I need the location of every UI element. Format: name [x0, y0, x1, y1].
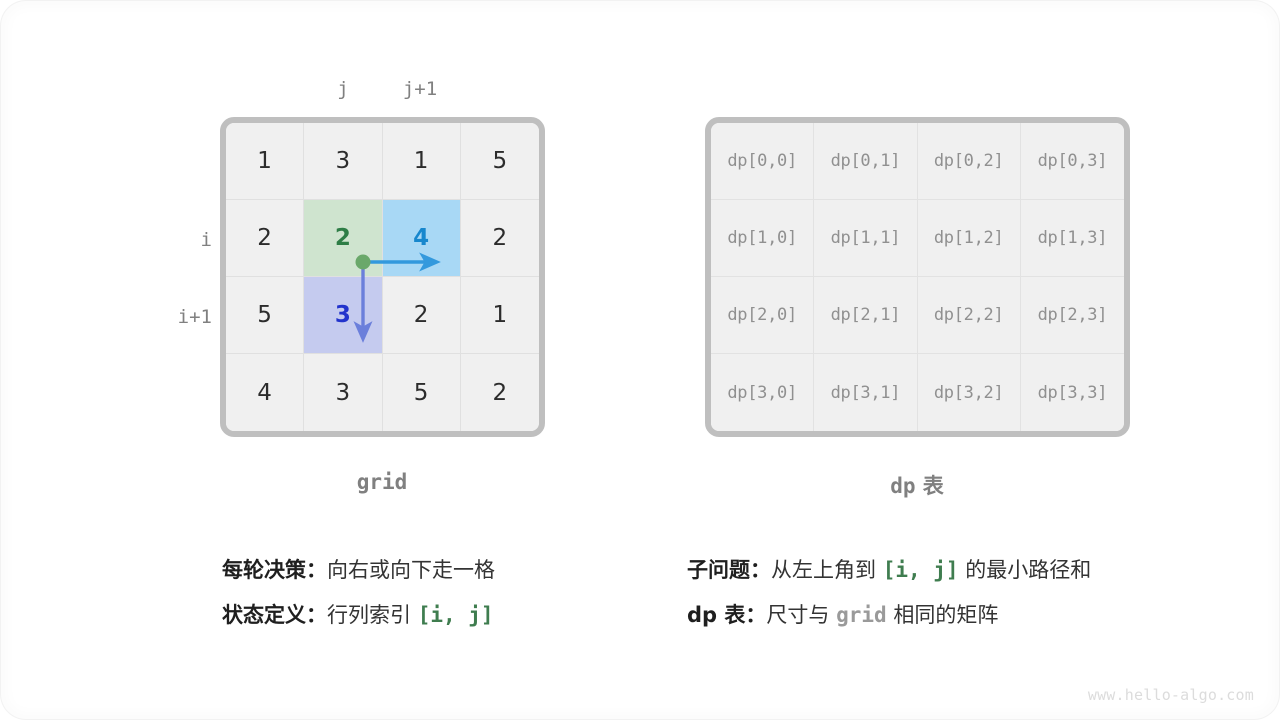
note-left-0: 每轮决策：向右或向下走一格 [222, 560, 495, 581]
dp-cell-0-3: dp[0,3] [1021, 123, 1124, 200]
note-right-0: 子问题：从左上角到 [i, j] 的最小路径和 [687, 560, 1091, 581]
note-code: [i, j] [418, 603, 494, 627]
dp-caption-code: dp [890, 474, 915, 498]
watermark: www.hello-algo.com [1088, 686, 1254, 704]
dp-cell-2-2: dp[2,2] [918, 277, 1021, 354]
grid-cell-value: 5 [257, 302, 272, 328]
note-label: 状态定义： [222, 603, 327, 627]
grid-cell-value: 2 [257, 225, 272, 251]
grid-cell-2-0: 5 [226, 277, 304, 354]
grid-cell-3-0: 4 [226, 354, 304, 431]
grid-matrix: 1315224253214352 [220, 117, 545, 437]
grid-cell-2-2: 2 [383, 277, 461, 354]
grid-cell-value: 2 [335, 225, 351, 251]
note-tail: 相同的矩阵 [887, 603, 999, 627]
note-label: 每轮决策： [222, 558, 327, 582]
grid-cell-value: 1 [493, 302, 508, 328]
dp-cell-2-1: dp[2,1] [814, 277, 917, 354]
dp-cell-1-0: dp[1,0] [711, 200, 814, 277]
note-left-1: 状态定义：行列索引 [i, j] [222, 605, 494, 626]
col-label-j-plus-1: j+1 [392, 78, 448, 100]
grid-cell-value: 2 [493, 225, 508, 251]
grid-cell-1-3: 2 [461, 200, 539, 277]
dp-cell-3-2: dp[3,2] [918, 354, 1021, 431]
grid-cell-value: 4 [413, 225, 429, 251]
dp-cell-0-2: dp[0,2] [918, 123, 1021, 200]
grid-cell-value: 1 [414, 148, 429, 174]
grid-cell-value: 3 [336, 148, 351, 174]
dp-cell-2-3: dp[2,3] [1021, 277, 1124, 354]
dp-cell-3-1: dp[3,1] [814, 354, 917, 431]
grid-cell-3-1: 3 [304, 354, 382, 431]
note-body: 尺寸与 [766, 603, 836, 627]
dp-caption: dp 表 [817, 470, 1017, 500]
grid-cell-value: 2 [414, 302, 429, 328]
dp-cell-2-0: dp[2,0] [711, 277, 814, 354]
note-tail: 的最小路径和 [959, 558, 1092, 582]
diagram-canvas: j j+1 i i+1 1315224253214352 grid [0, 0, 1280, 720]
grid-cell-3-3: 2 [461, 354, 539, 431]
dp-cell-3-3: dp[3,3] [1021, 354, 1124, 431]
grid-cell-value: 3 [335, 302, 351, 328]
grid-caption: grid [282, 470, 482, 494]
note-body: 向右或向下走一格 [327, 558, 495, 582]
dp-cell-1-2: dp[1,2] [918, 200, 1021, 277]
grid-cell-0-2: 1 [383, 123, 461, 200]
note-code: grid [836, 603, 887, 627]
dp-cell-3-0: dp[3,0] [711, 354, 814, 431]
grid-cell-2-1: 3 [304, 277, 382, 354]
note-body: 行列索引 [327, 603, 418, 627]
row-label-i: i [136, 229, 212, 251]
note-body: 从左上角到 [771, 558, 883, 582]
note-label: 子问题： [687, 558, 771, 582]
grid-cell-value: 4 [257, 380, 272, 406]
grid-cell-value: 3 [336, 380, 351, 406]
note-right-1: dp 表：尺寸与 grid 相同的矩阵 [687, 605, 998, 626]
dp-cell-0-1: dp[0,1] [814, 123, 917, 200]
grid-cell-value: 1 [257, 148, 272, 174]
grid-cell-0-3: 5 [461, 123, 539, 200]
grid-cell-1-1: 2 [304, 200, 382, 277]
note-label: dp 表： [687, 603, 766, 627]
grid-cell-value: 5 [493, 148, 508, 174]
grid-cell-2-3: 1 [461, 277, 539, 354]
note-code: [i, j] [883, 558, 959, 582]
grid-cell-value: 5 [414, 380, 429, 406]
dp-cell-0-0: dp[0,0] [711, 123, 814, 200]
grid-cell-3-2: 5 [383, 354, 461, 431]
dp-matrix: dp[0,0]dp[0,1]dp[0,2]dp[0,3]dp[1,0]dp[1,… [705, 117, 1130, 437]
dp-cell-1-3: dp[1,3] [1021, 200, 1124, 277]
grid-cell-1-0: 2 [226, 200, 304, 277]
dp-cell-1-1: dp[1,1] [814, 200, 917, 277]
dp-caption-suffix: 表 [915, 474, 943, 498]
grid-cell-1-2: 4 [383, 200, 461, 277]
grid-cell-0-1: 3 [304, 123, 382, 200]
grid-cell-0-0: 1 [226, 123, 304, 200]
row-label-i-plus-1: i+1 [136, 306, 212, 328]
grid-cell-value: 2 [493, 380, 508, 406]
col-label-j: j [323, 78, 363, 100]
